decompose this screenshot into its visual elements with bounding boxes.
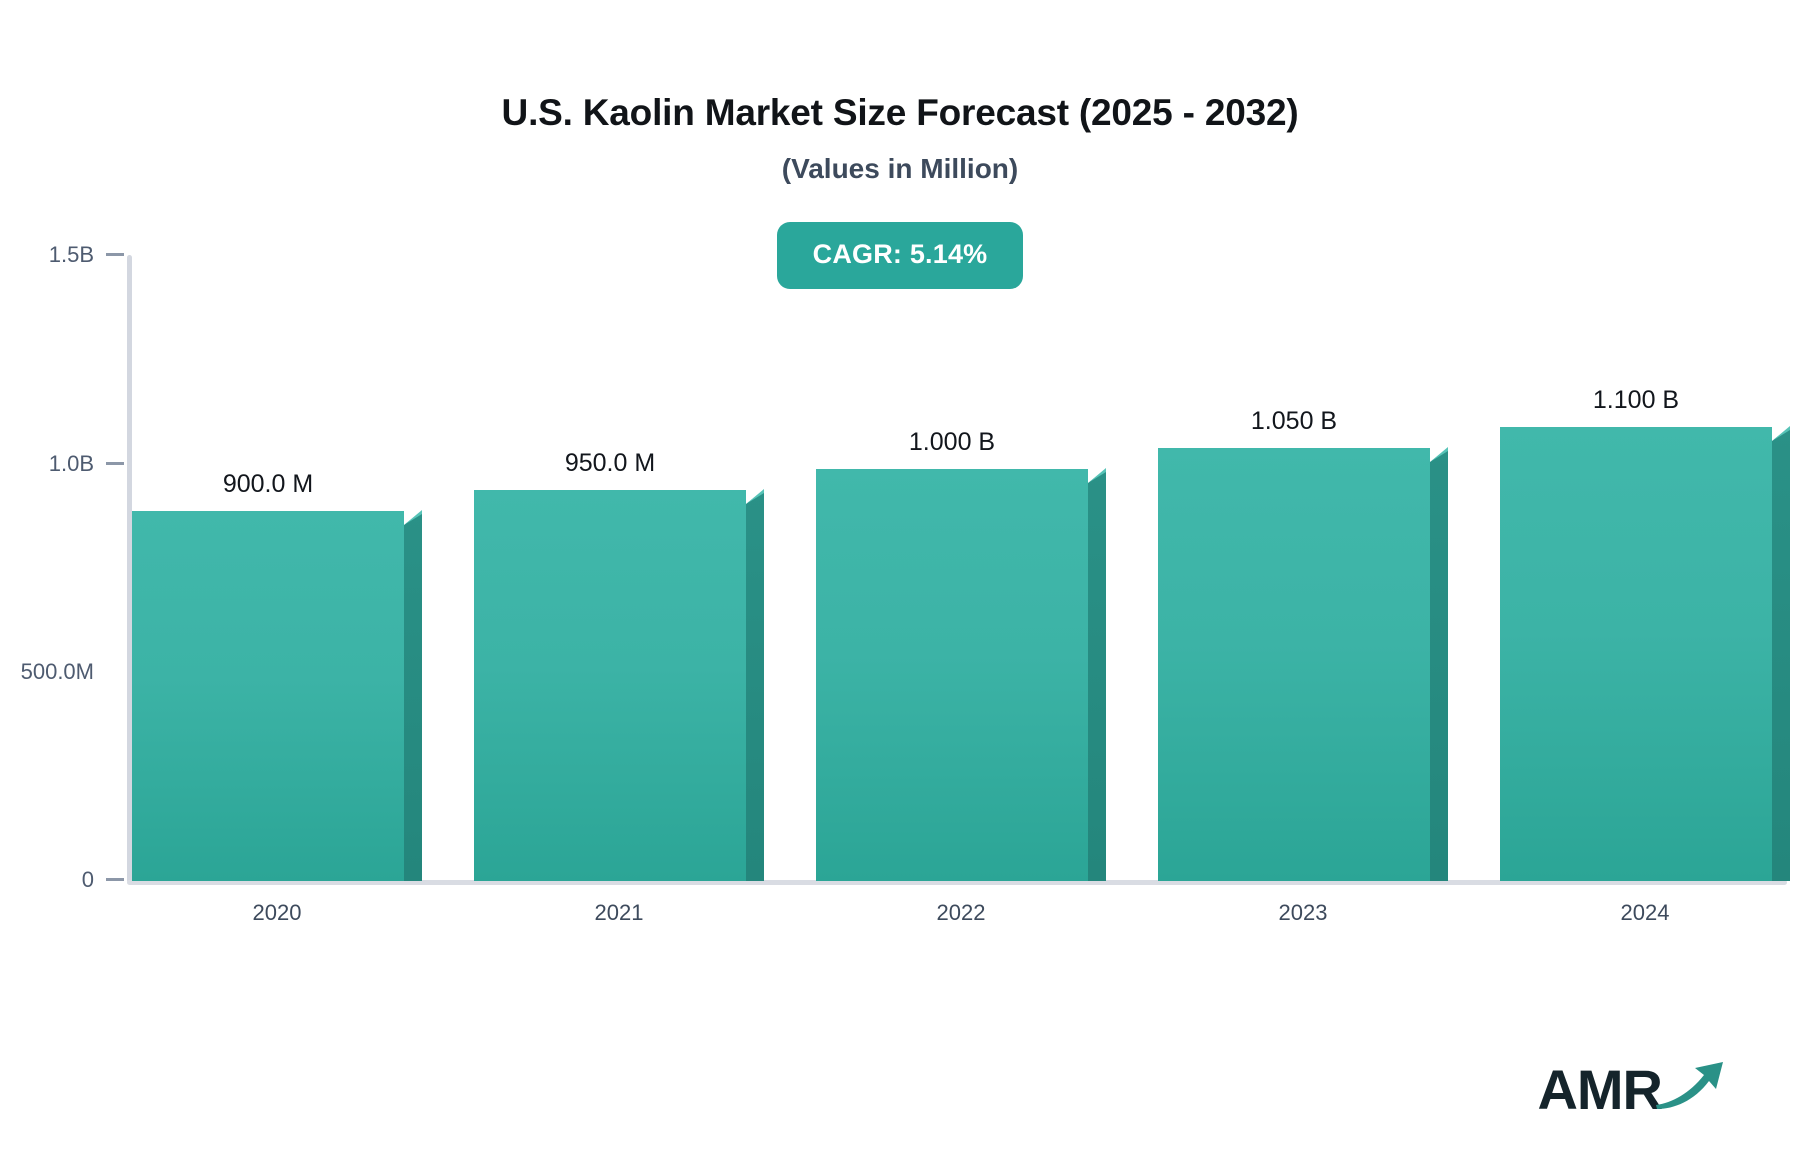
bar-2023[interactable] [1158, 448, 1448, 881]
bar-side-face [1088, 469, 1106, 881]
bar-front-face [816, 469, 1088, 881]
bar-group-2024[interactable]: 1.100 B 2024 [1500, 238, 1790, 881]
x-tick-label-2023: 2023 [1158, 900, 1448, 926]
amr-logo-text: AMR [1537, 1062, 1662, 1118]
x-tick-label-2021: 2021 [474, 900, 764, 926]
chart-page: U.S. Kaolin Market Size Forecast (2025 -… [0, 0, 1800, 1156]
y-tick-500M: 500.0M [0, 659, 124, 685]
bar-2020[interactable] [132, 511, 422, 881]
x-tick-label-2024: 2024 [1500, 900, 1790, 926]
bar-2024[interactable] [1500, 427, 1790, 881]
bar-group-2021[interactable]: 950.0 M 2021 [474, 238, 764, 881]
bar-side-face [746, 490, 764, 881]
bar-value-label: 1.100 B [1500, 386, 1772, 415]
bar-group-2023[interactable]: 1.050 B 2023 [1158, 238, 1448, 881]
page-title: U.S. Kaolin Market Size Forecast (2025 -… [0, 92, 1800, 135]
y-tick-0: 0 [0, 867, 124, 893]
y-tick-1_0B: 1.0B [0, 451, 124, 477]
bar-front-face [132, 511, 404, 881]
bar-2021[interactable] [474, 490, 764, 881]
bar-side-face [1772, 427, 1790, 881]
y-tick-label: 1.0B [49, 451, 94, 476]
y-tick-dash-icon [106, 878, 124, 881]
bar-group-2020[interactable]: 900.0 M 2020 [132, 238, 422, 881]
y-tick-dash-icon [106, 253, 124, 256]
plot-area: 1.5B 1.0B 500.0M 0 900.0 M 2020 950.0 M [0, 240, 1800, 880]
bar-side-face [1430, 448, 1448, 881]
y-tick-label: 0 [82, 867, 94, 892]
y-tick-label: 500.0M [21, 659, 94, 684]
chart-subtitle: (Values in Million) [0, 153, 1800, 185]
bar-front-face [1158, 448, 1430, 881]
y-tick-1_5B: 1.5B [0, 242, 124, 268]
y-tick-label: 1.5B [49, 242, 94, 267]
growth-arrow-icon [1654, 1059, 1726, 1114]
bar-series: 900.0 M 2020 950.0 M 2021 1.000 B [132, 240, 1787, 883]
amr-logo: AMR [1537, 1059, 1726, 1118]
bar-value-label: 1.000 B [816, 428, 1088, 457]
x-tick-label-2022: 2022 [816, 900, 1106, 926]
chart-header: U.S. Kaolin Market Size Forecast (2025 -… [0, 92, 1800, 185]
bar-group-2022[interactable]: 1.000 B 2022 [816, 238, 1106, 881]
bar-value-label: 900.0 M [132, 470, 404, 499]
bar-2022[interactable] [816, 469, 1106, 881]
bar-side-face [404, 511, 422, 881]
bar-value-label: 1.050 B [1158, 407, 1430, 436]
y-tick-dash-icon [106, 462, 124, 465]
x-tick-label-2020: 2020 [132, 900, 422, 926]
bar-value-label: 950.0 M [474, 449, 746, 478]
bar-front-face [1500, 427, 1772, 881]
bar-front-face [474, 490, 746, 881]
y-tick-dash-icon [106, 670, 124, 673]
